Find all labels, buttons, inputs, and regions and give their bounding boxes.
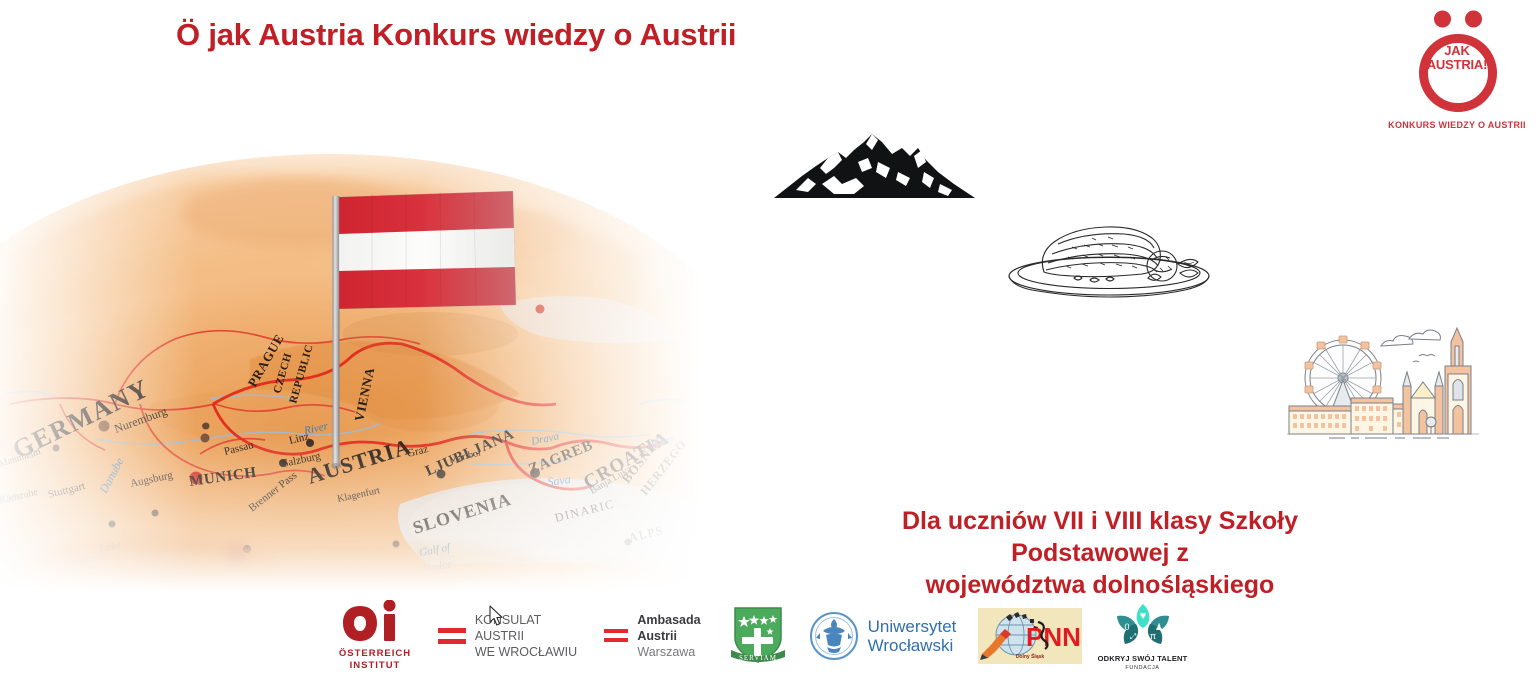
partner-pnn[interactable]: PNN Dolny Śląsk [970,592,1090,680]
serviam-shield-icon: SERVIAM [729,604,787,668]
austria-bars-icon [438,623,466,649]
odkryj-swoj-talent-flower-icon: ♥ 0 ♟ ⤢ π [1107,602,1179,652]
ambasada-wordmark: Ambasada Austrii Warszawa [637,612,700,661]
oi-line2: INSTITUT [339,660,411,672]
pnn-logo-icon: PNN Dolny Śląsk [978,608,1082,664]
kons-line2: AUSTRII [475,628,577,644]
brand-line1: JAK [1382,44,1532,58]
petal-glyph-chart: ⤢ [1128,632,1135,641]
target-audience-text: Dla uczniów VII i VIII klasy Szkoły Pods… [820,505,1380,601]
partner-odkryj-swoj-talent[interactable]: ♥ 0 ♟ ⤢ π ODKRYJ SWÓJ TALENT FUNDACJA [1090,592,1195,680]
partner-logo-strip: ÖSTERREICH INSTITUT KONSULAT AUSTRII WE … [320,592,1270,680]
brand-line2: AUSTRIA! [1382,58,1532,72]
subtitle-line1: Dla uczniów VII i VIII klasy Szkoły Pods… [820,505,1380,569]
brand-inner-text: JAK AUSTRIA! [1382,44,1532,72]
brand-logo: JAK AUSTRIA! KONKURS WIEDZY O AUSTRII [1382,4,1532,140]
partner-osterreich-institut[interactable]: ÖSTERREICH INSTITUT [320,592,430,680]
kons-line3: WE WROCŁAWIU [475,644,577,660]
pnn-wordmark: PNN [1026,622,1081,652]
kons-line1: KONSULAT [475,612,577,628]
osterreich-institut-wordmark: ÖSTERREICH INSTITUT [339,648,411,672]
pnn-subtext: Dolny Śląsk [1016,653,1045,660]
partner-serviam[interactable]: SERVIAM [720,592,795,680]
ost-line2: FUNDACJA [1125,665,1159,671]
amb-line1: Ambasada [637,612,700,628]
petal-glyph-zero: 0 [1124,622,1129,632]
partner-ambasada-austrii[interactable]: Ambasada Austrii Warszawa [585,592,720,680]
poster-canvas: Ö jak Austria Konkurs wiedzy o Austrii J… [0,0,1536,686]
uwr-line2: Wrocławski [868,636,957,655]
partner-konsulat-austrii[interactable]: KONSULAT AUSTRII WE WROCŁAWIU [430,592,585,680]
page-title: Ö jak Austria Konkurs wiedzy o Austrii [176,17,736,53]
uwr-line1: Uniwersytet [868,617,957,636]
petal-glyph-person: ♟ [1154,622,1162,632]
austria-bars-icon-small [604,625,628,647]
amb-line3: Warszawa [637,644,700,660]
partner-uniwersytet-wroclawski[interactable]: Uniwersytet Wrocławski [795,592,970,680]
osterreich-institut-icon [341,600,409,646]
mountains-icon [772,128,977,200]
brand-tagline: KONKURS WIEDZY O AUSTRII [1382,120,1532,130]
vienna-skyline-icon [1285,322,1481,442]
oi-line1: ÖSTERREICH [339,648,411,660]
petal-glyph-pi: π [1149,631,1155,641]
strudel-plate-icon [1002,216,1217,300]
ost-line1: ODKRYJ SWÓJ TALENT [1098,654,1188,663]
konsulat-wordmark: KONSULAT AUSTRII WE WROCŁAWIU [475,612,577,660]
amb-line2: Austrii [637,628,700,644]
uniwersytet-wroclawski-seal-icon [809,611,859,661]
uniwersytet-wroclawski-wordmark: Uniwersytet Wrocławski [868,617,957,655]
map-graphic: GERMANY AUSTRIA SLOVENIA CROATIA BOSNIA-… [0,104,703,591]
europe-map-photo: GERMANY AUSTRIA SLOVENIA CROATIA BOSNIA-… [0,104,703,591]
serviam-motto: SERVIAM [739,654,777,662]
petal-glyph-heart: ♥ [1139,610,1146,622]
